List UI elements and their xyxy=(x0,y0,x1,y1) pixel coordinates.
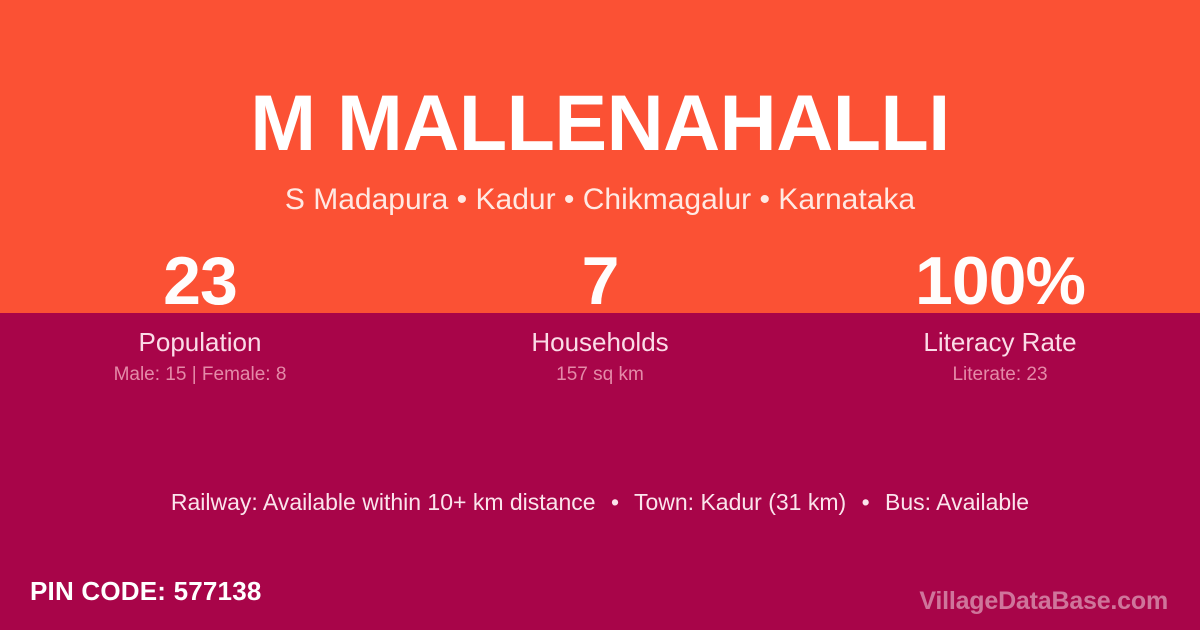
stat-label: Households xyxy=(400,327,800,357)
stat-households: 7 Households 157 sq km xyxy=(400,248,800,386)
stat-population: 23 Population Male: 15 | Female: 8 xyxy=(0,248,400,386)
stat-value: 7 xyxy=(400,248,800,314)
railway-info: Railway: Available within 10+ km distanc… xyxy=(171,489,596,515)
stat-sublabel: Male: 15 | Female: 8 xyxy=(0,364,400,386)
page-title: M MALLENAHALLI xyxy=(0,80,1200,166)
amenities-line: Railway: Available within 10+ km distanc… xyxy=(0,487,1200,517)
info-separator: • xyxy=(602,489,628,515)
stat-label: Population xyxy=(0,327,400,357)
bus-info: Bus: Available xyxy=(885,489,1029,515)
info-separator: • xyxy=(853,489,879,515)
stat-label: Literacy Rate xyxy=(800,327,1200,357)
stat-value: 23 xyxy=(0,248,400,314)
stat-literacy-rate: 100% Literacy Rate Literate: 23 xyxy=(800,248,1200,386)
stat-sublabel: Literate: 23 xyxy=(800,364,1200,386)
village-info-card: M MALLENAHALLI S Madapura • Kadur • Chik… xyxy=(0,0,1200,630)
town-info: Town: Kadur (31 km) xyxy=(634,489,846,515)
stat-value: 100% xyxy=(800,248,1200,314)
stat-sublabel: 157 sq km xyxy=(400,364,800,386)
pin-code: PIN CODE: 577138 xyxy=(30,575,262,607)
brand-watermark: VillageDataBase.com xyxy=(919,586,1168,616)
breadcrumb: S Madapura • Kadur • Chikmagalur • Karna… xyxy=(0,181,1200,219)
stats-row: 23 Population Male: 15 | Female: 8 7 Hou… xyxy=(0,248,1200,386)
